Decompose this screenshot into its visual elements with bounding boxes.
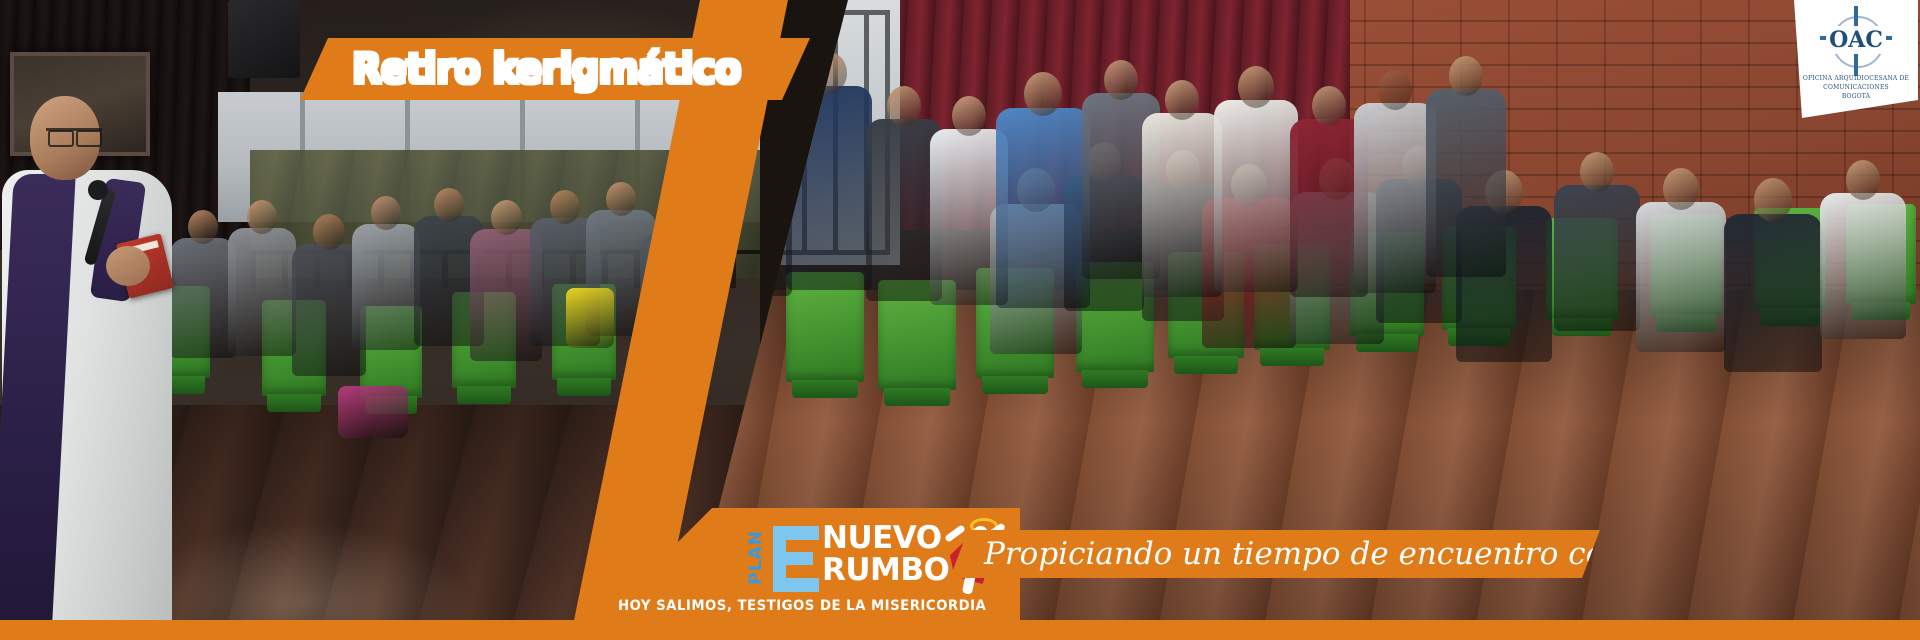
person-head (1104, 60, 1138, 100)
title-banner: Retiro kerigmático (300, 38, 810, 100)
person-head (1449, 56, 1483, 96)
person-head (811, 52, 847, 94)
person-head (1580, 152, 1614, 192)
bag (566, 288, 614, 348)
person-head (550, 190, 580, 224)
oac-subtitle-line3: BOGOTÁ (1800, 92, 1912, 101)
plan-word: PLAN (748, 530, 765, 585)
person-body (352, 224, 420, 350)
logo-line-rumbo: RUMBO (822, 556, 949, 585)
person-head (1754, 178, 1792, 222)
person-head (371, 196, 401, 230)
person-head (1024, 72, 1062, 116)
oac-subtitle-line1: OFICINA ARQUIDIOCESANA DE (1800, 74, 1912, 83)
oac-subtitle: OFICINA ARQUIDIOCESANA DE COMUNICACIONES… (1800, 74, 1912, 101)
person-head (1846, 160, 1880, 200)
person-body (228, 228, 296, 356)
person-head (887, 86, 921, 126)
person-head (1312, 86, 1346, 126)
page-title: Retiro kerigmático (352, 48, 741, 90)
person-head (247, 200, 277, 234)
oac-logo: OAC OFICINA ARQUIDIOCESANA DE COMUNICACI… (1794, 0, 1918, 118)
person-head (1378, 70, 1412, 110)
person-body (1554, 185, 1640, 331)
person-body (1724, 214, 1822, 372)
logo-tagline: HOY SALIMOS, TESTIGOS DE LA MISERICORDIA (618, 598, 986, 614)
person-body (1636, 202, 1726, 352)
person-head (313, 214, 345, 250)
person-head (434, 188, 464, 222)
person-head (1165, 80, 1199, 120)
person-head (1238, 66, 1274, 108)
person-head (952, 96, 986, 136)
person-body (996, 108, 1090, 308)
person-head (606, 182, 636, 216)
loudspeaker (228, 0, 300, 78)
person-head (1663, 168, 1699, 210)
person-body (1142, 113, 1222, 297)
bottom-accent-bar (0, 620, 1920, 640)
letter-e-icon (773, 526, 819, 592)
person-body (1214, 100, 1298, 292)
oac-initials: OAC (1826, 26, 1886, 54)
priest-hand (106, 246, 150, 286)
microphone-head (88, 180, 108, 200)
priest-figure (2, 96, 202, 620)
priest-glasses (46, 128, 102, 143)
slogan-banner: Propiciando un tiempo de encuentro con e… (950, 530, 1600, 578)
person-body (786, 86, 872, 290)
person-head (491, 200, 522, 235)
logo-line-nuevo: NUEVO (822, 524, 942, 553)
oac-cross-mark-icon: OAC (1820, 12, 1892, 70)
person-body (1820, 193, 1906, 339)
person-body (1354, 103, 1436, 293)
bag (338, 386, 408, 438)
oac-subtitle-line2: COMUNICACIONES (1800, 83, 1912, 92)
retiro-kerigmatico-banner: Retiro kerigmático PLAN NUEVO RUMBO HOY … (0, 0, 1920, 640)
person-body (1426, 89, 1506, 277)
